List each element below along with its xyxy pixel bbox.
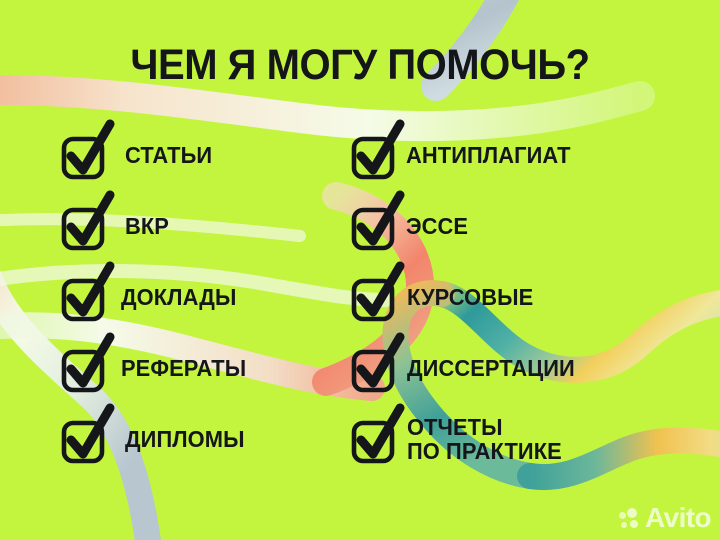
- list-item-label: РЕФЕРАТЫ: [121, 357, 246, 380]
- checkbox-checked-icon[interactable]: [62, 206, 103, 247]
- list-item-label: АНТИПЛАГИАТ: [406, 144, 571, 167]
- checkbox-checked-icon[interactable]: [352, 135, 393, 176]
- list-item-label: СТАТЬИ: [125, 144, 212, 167]
- list-item-label: ДИССЕРТАЦИИ: [407, 357, 575, 380]
- list-item-label: КУРСОВЫЕ: [407, 286, 533, 309]
- list-item-dissertacii[interactable]: ДИССЕРТАЦИИ: [352, 333, 682, 404]
- list-item-label: ДОКЛАДЫ: [121, 286, 236, 309]
- checkbox-checked-icon[interactable]: [352, 206, 393, 247]
- checkbox-checked-icon[interactable]: [62, 135, 103, 176]
- service-list-right: АНТИПЛАГИАТ ЭССЕ КУРСОВЫЕ: [352, 120, 682, 475]
- list-item-label: ЭССЕ: [406, 215, 468, 238]
- list-item-doklady[interactable]: ДОКЛАДЫ: [62, 262, 352, 333]
- list-item-stati[interactable]: СТАТЬИ: [62, 120, 352, 191]
- list-item-vkr[interactable]: ВКР: [62, 191, 352, 262]
- page-title: ЧЕМ Я МОГУ ПОМОЧЬ?: [25, 44, 695, 87]
- list-item-antiplagiat[interactable]: АНТИПЛАГИАТ: [352, 120, 682, 191]
- list-item-referaty[interactable]: РЕФЕРАТЫ: [62, 333, 352, 404]
- checkbox-checked-icon[interactable]: [62, 419, 103, 460]
- list-item-label: ДИПЛОМЫ: [125, 428, 245, 451]
- service-list-left: СТАТЬИ ВКР ДОКЛАДЫ: [62, 120, 352, 475]
- avito-wordmark: Avito: [645, 504, 711, 532]
- poster-canvas: ЧЕМ Я МОГУ ПОМОЧЬ? СТАТЬИ ВКР: [0, 0, 720, 540]
- list-item-diplomy[interactable]: ДИПЛОМЫ: [62, 404, 352, 475]
- checkbox-checked-icon[interactable]: [352, 277, 393, 318]
- avito-dots-icon: [619, 508, 641, 529]
- list-item-esse[interactable]: ЭССЕ: [352, 191, 682, 262]
- checkbox-checked-icon[interactable]: [62, 348, 103, 389]
- avito-watermark: Avito: [619, 504, 711, 532]
- list-item-kursovye[interactable]: КУРСОВЫЕ: [352, 262, 682, 333]
- checkbox-checked-icon[interactable]: [352, 348, 393, 389]
- checkbox-checked-icon[interactable]: [352, 419, 393, 460]
- list-item-label: ВКР: [125, 215, 169, 238]
- checkbox-checked-icon[interactable]: [62, 277, 103, 318]
- list-item-otchety-po-praktike[interactable]: ОТЧЕТЫ ПО ПРАКТИКЕ: [352, 404, 682, 475]
- list-item-label: ОТЧЕТЫ ПО ПРАКТИКЕ: [407, 416, 562, 463]
